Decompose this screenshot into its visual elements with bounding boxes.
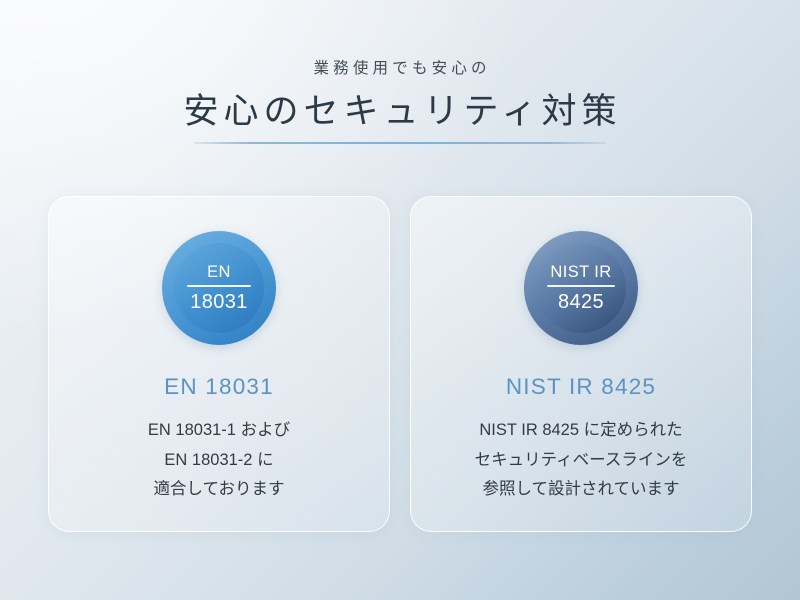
badge-label-group: NIST IR 8425 (547, 262, 614, 314)
slide-root: 業務使用でも安心の 安心のセキュリティ対策 EN 18031 EN 18031 … (0, 0, 800, 600)
card-body-line: 参照して設計されています (475, 475, 688, 505)
certification-seal-icon: NIST IR 8425 (524, 231, 638, 345)
card-body-text: EN 18031-1 および EN 18031-2 に 適合しております (148, 416, 290, 505)
badge-top-label: NIST IR (547, 262, 614, 282)
badge-top-label: EN (187, 262, 251, 282)
badge-divider (547, 285, 614, 287)
badge-divider (187, 285, 251, 287)
card-body-line: セキュリティベースラインを (475, 446, 688, 476)
certification-card-en-18031: EN 18031 EN 18031 EN 18031-1 および EN 1803… (48, 196, 390, 532)
header-eyebrow: 業務使用でも安心の (0, 58, 800, 80)
certification-seal-icon: EN 18031 (162, 231, 276, 345)
badge-bottom-label: 8425 (547, 290, 614, 314)
card-body-text: NIST IR 8425 に定められた セキュリティベースラインを 参照して設計… (475, 416, 688, 505)
badge-bottom-label: 18031 (187, 290, 251, 314)
page-title: 安心のセキュリティ対策 (0, 89, 800, 135)
card-body-line: NIST IR 8425 に定められた (475, 416, 688, 446)
card-title: NIST IR 8425 (506, 373, 656, 401)
card-body-line: EN 18031-2 に (148, 446, 290, 476)
card-title: EN 18031 (164, 373, 274, 401)
title-underline-rule (194, 142, 606, 144)
certification-card-list: EN 18031 EN 18031 EN 18031-1 および EN 1803… (48, 196, 752, 532)
card-body-line: 適合しております (148, 475, 290, 505)
slide-header: 業務使用でも安心の 安心のセキュリティ対策 (0, 58, 800, 144)
card-body-line: EN 18031-1 および (148, 416, 290, 446)
certification-card-nist-ir-8425: NIST IR 8425 NIST IR 8425 NIST IR 8425 に… (410, 196, 752, 532)
badge-label-group: EN 18031 (187, 262, 251, 314)
